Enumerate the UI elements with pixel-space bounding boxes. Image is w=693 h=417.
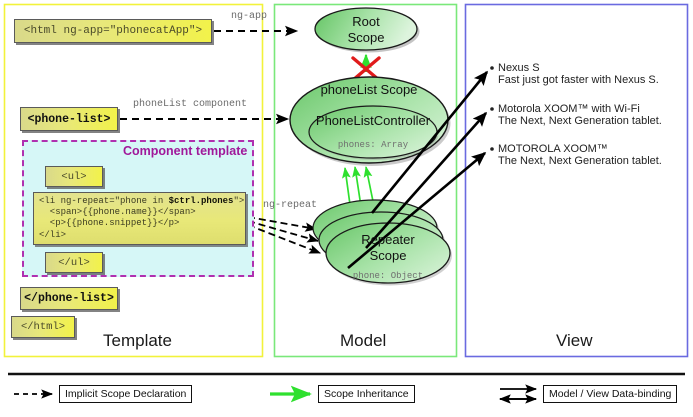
root-scope-label-line2: Scope: [336, 30, 396, 45]
panel-label-model: Model: [340, 331, 386, 351]
blocked-inheritance: [353, 55, 379, 80]
panel-view: [466, 5, 688, 357]
ul-open-tag-box[interactable]: <ul>: [45, 166, 103, 187]
legend-label-scope-inheritance: Scope Inheritance: [318, 385, 415, 403]
view-list-item[interactable]: Motorola XOOM™ with Wi-Fi The Next, Next…: [498, 103, 662, 127]
code-line-3: <p>{{phone.snippet}}</p>: [39, 218, 179, 228]
view-bullet: [490, 147, 494, 151]
legend-text: Scope Inheritance: [324, 388, 409, 400]
edge-label-phonelist-component: phoneList component: [133, 99, 247, 110]
view-item-snippet: The Next, Next Generation tablet.: [498, 155, 662, 167]
code-line-1-part-c: ">: [233, 196, 244, 206]
html-close-tag-label: </html>: [21, 321, 65, 333]
view-bullet: [490, 107, 494, 111]
view-item-snippet: The Next, Next Generation tablet.: [498, 115, 662, 127]
component-template-title: Component template: [123, 144, 247, 158]
repeater-scope-label-line1: Repeater: [338, 232, 438, 247]
repeater-scope-property: phone: Object: [338, 271, 438, 281]
code-line-2: <span>{{phone.name}}</span>: [39, 207, 196, 217]
view-item-title: Motorola XOOM™ with Wi-Fi: [498, 103, 662, 115]
edge-ng-repeat: [248, 217, 320, 253]
phone-list-close-tag-label: </phone-list>: [24, 292, 114, 305]
ul-close-tag-label: </ul>: [58, 257, 90, 269]
edge-label-ng-repeat: ng-repeat: [263, 200, 317, 211]
html-open-tag-box[interactable]: <html ng-app="phonecatApp">: [14, 19, 212, 43]
legend-text: Model / View Data-binding: [549, 388, 671, 400]
html-open-tag-label: <html ng-app="phonecatApp">: [24, 25, 202, 37]
phonelist-scope-label: phoneList Scope: [309, 82, 429, 97]
view-list-item[interactable]: MOTOROLA XOOM™ The Next, Next Generation…: [498, 143, 662, 167]
diagram-canvas: <html ng-app="phonecatApp"> <phone-list>…: [0, 0, 693, 417]
ng-repeat-code-block[interactable]: <li ng-repeat="phone in $ctrl.phones"> <…: [33, 192, 246, 245]
root-scope-label-line1: Root: [336, 14, 396, 29]
panel-label-template: Template: [103, 331, 172, 351]
legend-label-model-view-data-binding: Model / View Data-binding: [543, 385, 677, 403]
view-item-title: MOTOROLA XOOM™: [498, 143, 662, 155]
view-list-item[interactable]: Nexus S Fast just got faster with Nexus …: [498, 62, 659, 86]
view-item-title: Nexus S: [498, 62, 659, 74]
repeater-scope-label-line2: Scope: [338, 248, 438, 263]
code-line-1-part-a: <li ng-repeat="phone in: [39, 196, 169, 206]
panel-label-view: View: [556, 331, 593, 351]
phonelist-controller-label: PhoneListController: [303, 113, 443, 128]
code-line-1-expression: $ctrl.phones: [169, 196, 234, 206]
phone-list-tag-box[interactable]: <phone-list>: [20, 107, 118, 131]
legend-text: Implicit Scope Declaration: [65, 388, 186, 400]
ul-open-tag-label: <ul>: [61, 171, 86, 183]
html-close-tag-box[interactable]: </html>: [11, 316, 75, 338]
ul-close-tag-box[interactable]: </ul>: [45, 252, 103, 273]
legend-glyph-databinding: [500, 389, 536, 399]
legend-label-implicit-scope-declaration: Implicit Scope Declaration: [59, 385, 192, 403]
edge-label-ng-app: ng-app: [231, 11, 267, 22]
code-line-4: </li>: [39, 230, 66, 240]
view-bullet: [490, 66, 494, 70]
phone-list-close-tag-box[interactable]: </phone-list>: [20, 287, 118, 310]
phone-list-tag-label: <phone-list>: [28, 113, 111, 126]
phonelist-scope-property: phones: Array: [313, 140, 433, 150]
view-item-snippet: Fast just got faster with Nexus S.: [498, 74, 659, 86]
